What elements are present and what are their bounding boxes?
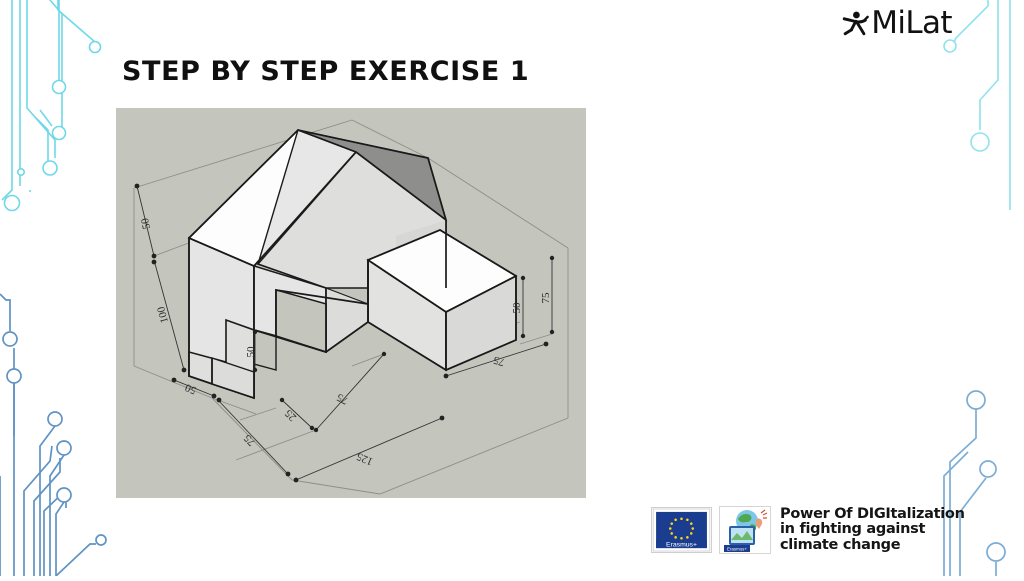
dim-front-bottom: 75 [241,432,258,449]
slide-root: MiLat STEP BY STEP EXERCISE 1 [0,0,1024,576]
dim-opening-width: 75 [334,391,350,407]
footer-title-line-1: Power Of DIGItalization [780,507,965,523]
page-title: STEP BY STEP EXERCISE 1 [122,56,529,87]
dim-opening-offset: 25 [282,407,299,424]
circuit-trace-decoration-top-left [0,0,120,290]
dim-right-outer: 75 [540,292,552,304]
brand-name: MiLat [871,8,952,39]
running-figure-icon [840,8,870,38]
footer-logos: Erasmus+ Erasmus+ Power Of DIGItalizatio… [651,506,965,554]
dim-right-inner: 50 [511,302,523,314]
eu-logo-label: Erasmus+ [666,542,697,549]
building-solid [189,130,516,398]
technical-drawing-canvas: 50 100 50 75 50 25 75 50 75 75 125 [116,108,586,498]
brand-logo: MiLat [840,4,952,42]
circuit-trace-decoration-bottom-left [0,276,130,576]
project-logo-caption: Erasmus+ [727,546,747,551]
dim-front-left: 50 [183,381,198,397]
dim-right-depth: 75 [492,353,507,368]
circuit-trace-decoration-top-right [914,0,1024,290]
dim-front-overall: 125 [354,450,374,468]
eu-flag-icon: Erasmus+ [651,507,712,553]
digitalization-tablet-icon: Erasmus+ [719,506,771,554]
dim-left-upper: 50 [139,217,153,231]
dim-left-lower: 100 [155,305,171,325]
footer-project-title: Power Of DIGItalization in fighting agai… [780,507,965,554]
dim-opening-height: 50 [245,346,257,358]
footer-title-line-2: in fighting against [780,522,965,538]
footer-title-line-3: climate change [780,538,965,554]
